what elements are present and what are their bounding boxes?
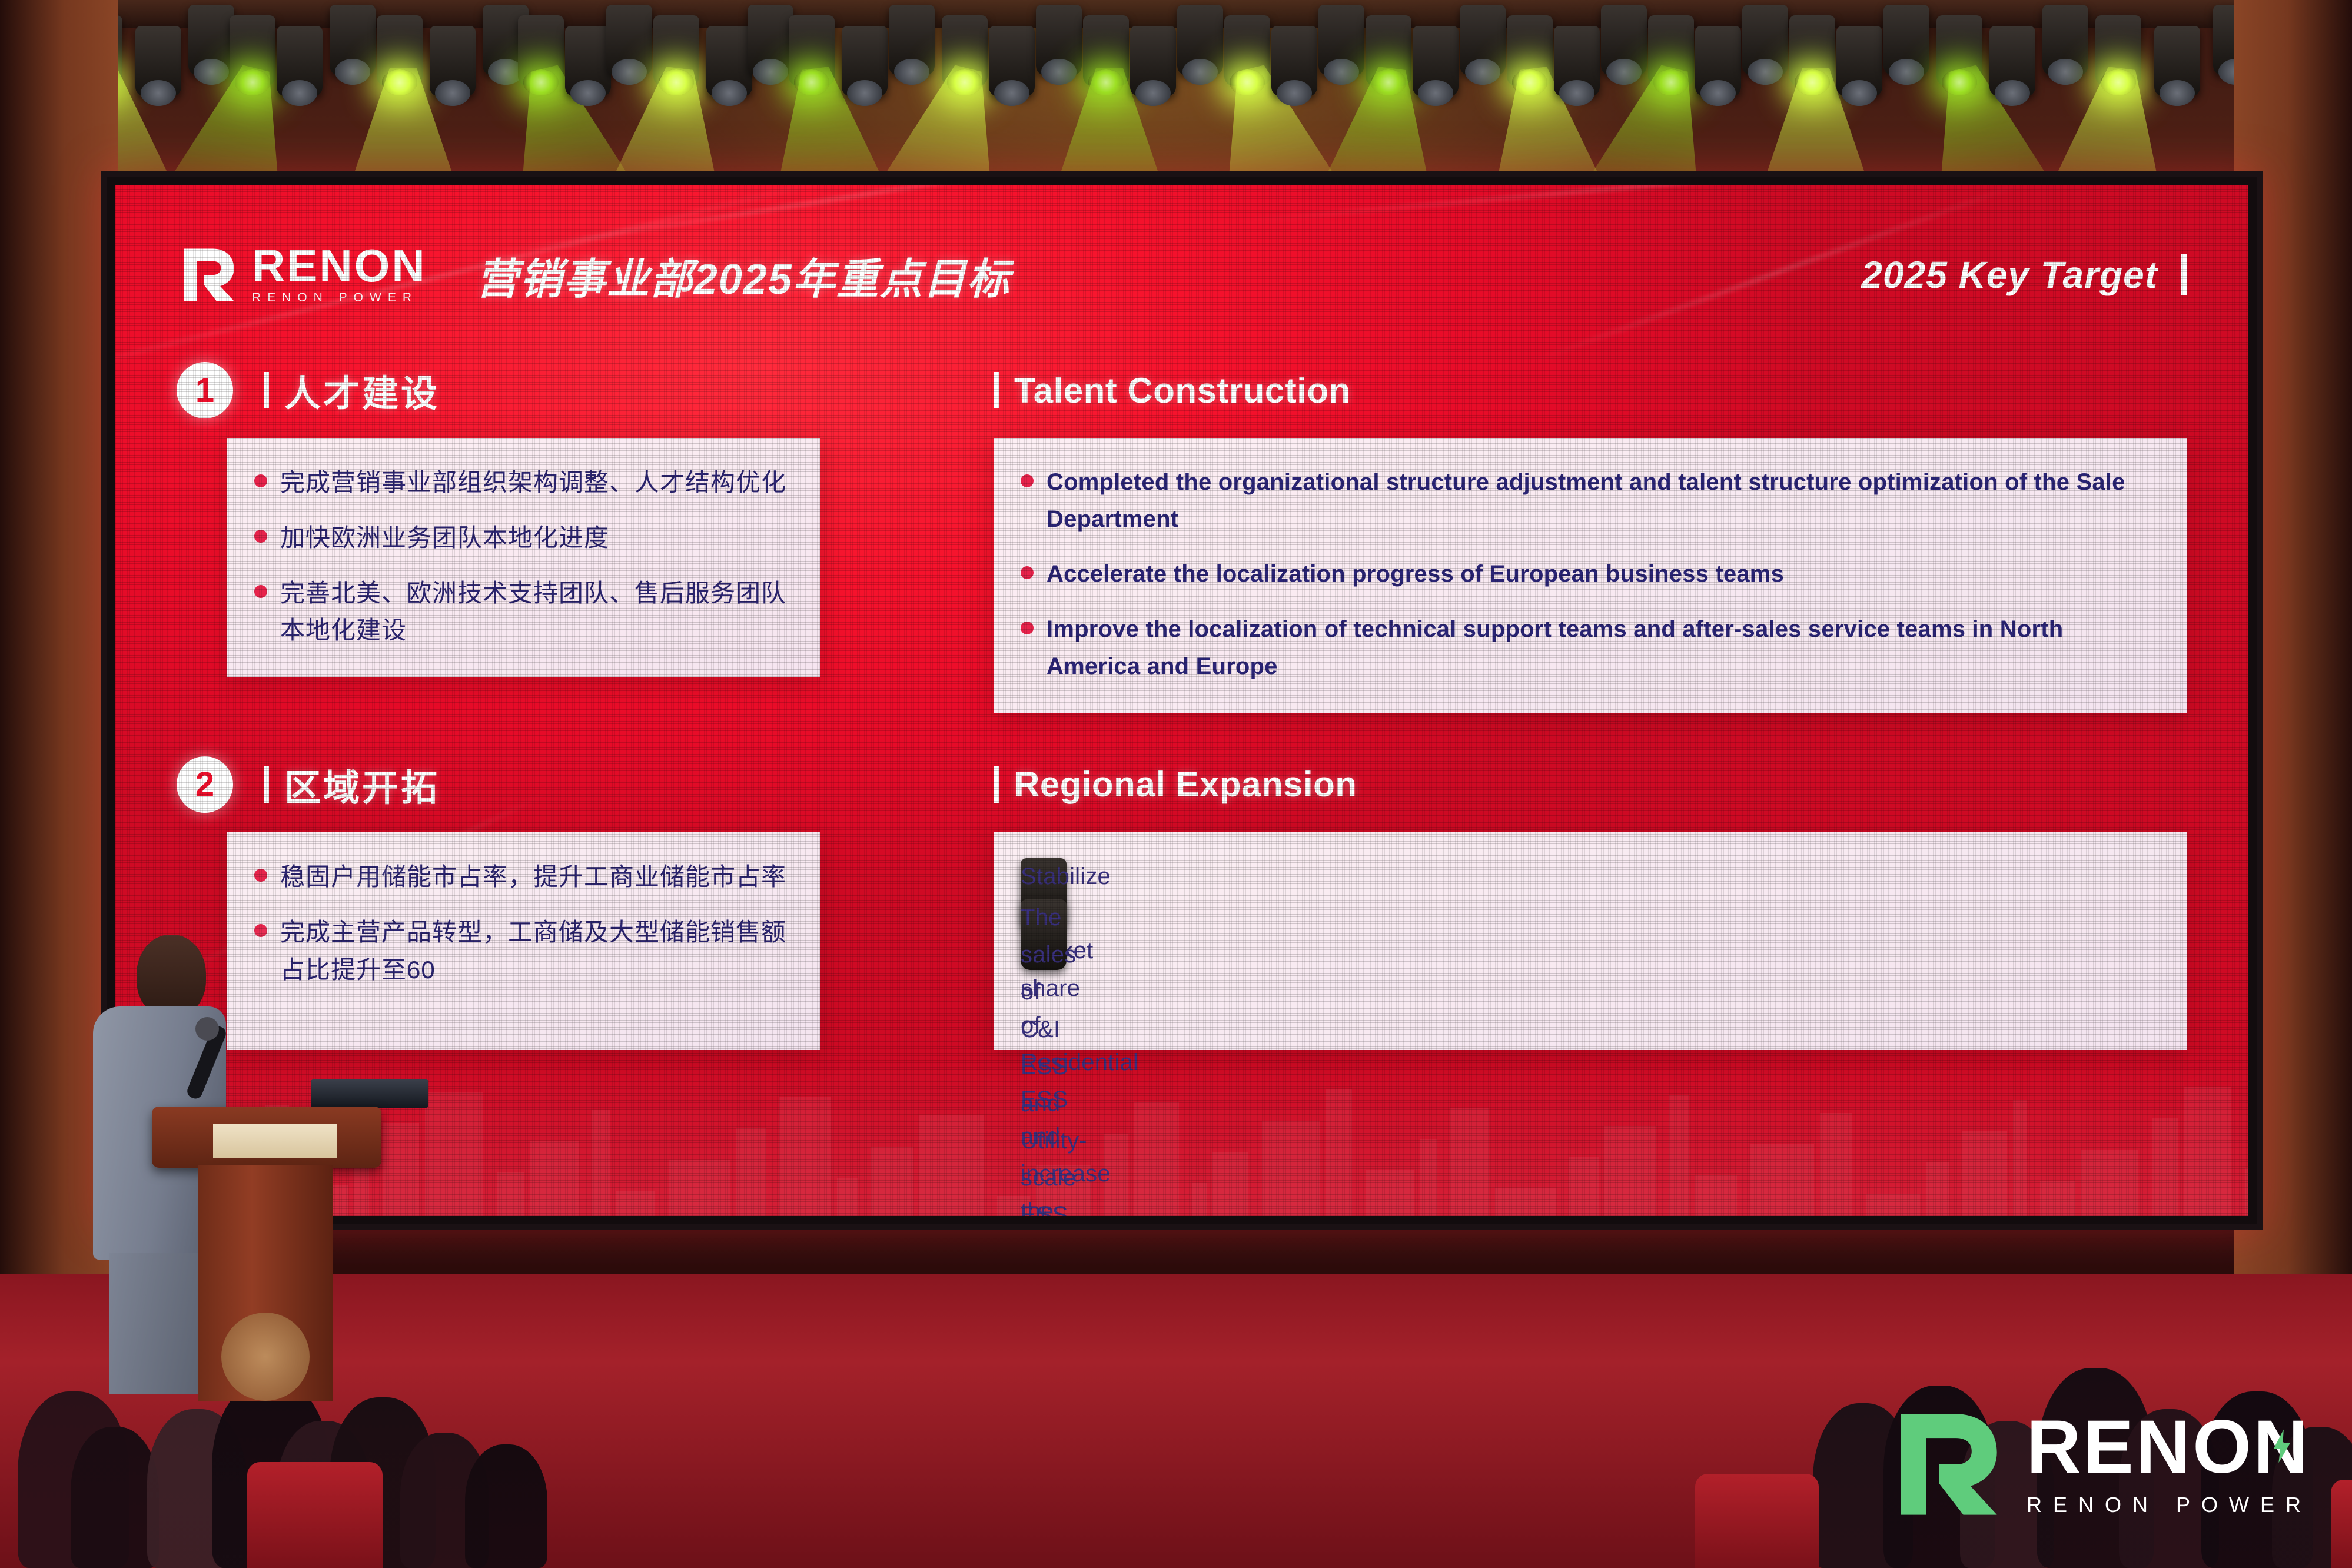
bullet-dot-icon (254, 869, 267, 882)
stage-light (565, 26, 611, 97)
stage-light (2154, 26, 2200, 97)
stage-light (518, 15, 564, 86)
light-lens (570, 80, 606, 106)
list-item: 完成主营产品转型，工商储及大型储能销售额占比提升至60 (254, 913, 789, 989)
bullet-text: Completed the organizational structure a… (1047, 464, 2155, 538)
list-item: 完成营销事业部组织架构调整、人才结构优化 (254, 464, 789, 501)
stage-light (989, 26, 1035, 97)
light-lens (994, 80, 1029, 106)
light-lens (712, 80, 747, 106)
light-lens (659, 69, 694, 95)
stage-light (430, 26, 476, 97)
light-lens (1230, 69, 1265, 95)
stage-light (748, 5, 793, 75)
bullet-dot-icon (254, 474, 267, 487)
stage-light (1789, 15, 1835, 86)
stage-light (606, 5, 652, 75)
podium-top (152, 1107, 381, 1168)
bullet-text: 加快欧洲业务团队本地化进度 (280, 519, 609, 557)
section-1-card-cn: 完成营销事业部组织架构调整、人才结构优化 加快欧洲业务团队本地化进度 完善北美、… (227, 438, 820, 677)
logo-renon-subtitle: RENON POWER (252, 291, 427, 305)
watermark-subtitle: RENON POWER (2027, 1493, 2312, 1517)
stage-light (1413, 26, 1459, 97)
bullet-dot-icon (1021, 566, 1034, 579)
light-lens (435, 80, 470, 106)
bullet-text: Accelerate the localization progress of … (1047, 556, 1784, 593)
stage-light (277, 26, 323, 97)
audience-member (465, 1444, 547, 1568)
stage-light (1554, 26, 1600, 97)
stage-light (889, 5, 935, 75)
light-lens (1512, 69, 1547, 95)
bullet-dot-icon (254, 530, 267, 543)
stage-light (1130, 26, 1176, 97)
stage-light (1318, 5, 1364, 75)
light-lens (1795, 69, 1830, 95)
list-item: Improve the localization of technical su… (1021, 611, 2155, 685)
presentation-slide: RENON RENON POWER 营销事业部2025年重点目标 2025 Ke… (115, 185, 2248, 1216)
renon-watermark-logo-icon (1886, 1404, 2006, 1524)
bullet-dot-icon (254, 585, 267, 598)
logo-renon-text: RENON (252, 245, 427, 287)
section-2-english-column: Regional Expansion Stabilize the market … (948, 752, 2187, 1050)
stage-light (188, 5, 234, 75)
bullet-text: 稳固户用储能市占率，提升工商业储能市占率 (280, 858, 786, 896)
stage-light (2042, 5, 2088, 75)
light-lens (1995, 80, 2030, 106)
light-lens (2160, 80, 2195, 106)
light-lens (1418, 80, 1453, 106)
stage-light (330, 5, 376, 75)
stage-light (1883, 5, 1929, 75)
section-1-english-column: Talent Construction Completed the organi… (948, 358, 2187, 713)
light-lens (2048, 59, 2083, 85)
section-number-badge: 1 (177, 362, 233, 418)
section-2-card-en: Stabilize the market share of Residentia… (994, 832, 2187, 1050)
section-2-heading-en-row: Regional Expansion (994, 752, 2187, 817)
section-1-chinese-column: 1 人才建设 完成营销事业部组织架构调整、人才结构优化 加快欧洲业务 (177, 358, 948, 713)
slide-header-right: 2025 Key Target (1861, 253, 2187, 297)
light-lens (141, 80, 176, 106)
light-lens (1653, 69, 1689, 95)
stage-light (942, 15, 988, 86)
light-lens (1700, 80, 1736, 106)
light-lens (794, 69, 829, 95)
heading-accent-bar (994, 766, 999, 803)
light-lens (1088, 69, 1124, 95)
watermark-renon-label: RENON (2027, 1405, 2310, 1489)
stage-light (1695, 26, 1741, 97)
stage-light (1836, 26, 1882, 97)
light-lens (335, 59, 370, 85)
heading-accent-bar (264, 766, 269, 803)
renon-wordmark: RENON RENON POWER (252, 245, 427, 305)
podium-emblem-icon (221, 1313, 310, 1401)
banquet-chair (1695, 1474, 1819, 1568)
renon-watermark-wordmark: RENON RENON POWER (2027, 1411, 2312, 1517)
stage-light (1648, 15, 1694, 86)
light-lens (2101, 69, 2136, 95)
renon-watermark: RENON RENON POWER (1886, 1404, 2312, 1524)
lightning-bolt-icon (2272, 1429, 2292, 1463)
stage-light (706, 26, 752, 97)
stage-light (1601, 5, 1647, 75)
list-item: The sales of C&I ESS and Utility-scale E… (1021, 899, 2155, 923)
stage-light (789, 15, 835, 86)
conference-stage-scene: RENON RENON POWER 营销事业部2025年重点目标 2025 Ke… (0, 0, 2352, 1568)
led-screen: RENON RENON POWER 营销事业部2025年重点目标 2025 Ke… (115, 185, 2248, 1216)
stage-light (230, 15, 275, 86)
section-2-heading-cn-row: 2 区域开拓 (177, 752, 948, 817)
stage-light (1460, 5, 1506, 75)
bullet-dot-icon (1021, 622, 1034, 634)
section-2-heading-cn: 区域开拓 (284, 758, 440, 811)
venue-plaque (213, 1124, 337, 1158)
list-item: Stabilize the market share of Residentia… (1021, 858, 2155, 882)
light-lens (1324, 59, 1359, 85)
podium-column (198, 1165, 333, 1401)
light-lens (894, 59, 929, 85)
stage-light (653, 15, 699, 86)
header-divider-bar (2181, 254, 2187, 295)
podium (152, 1107, 381, 1548)
banquet-chair (2331, 1480, 2352, 1568)
stage-light (1224, 15, 1270, 86)
section-talent-construction: 1 人才建设 完成营销事业部组织架构调整、人才结构优化 加快欧洲业务 (177, 358, 2187, 713)
light-lens (523, 69, 559, 95)
light-lens (235, 69, 270, 95)
section-2-heading-en: Regional Expansion (1014, 764, 1357, 805)
list-item: 稳固户用储能市占率，提升工商业储能市占率 (254, 858, 789, 896)
stage-light (1083, 15, 1129, 86)
section-1-heading-en: Talent Construction (1014, 370, 1351, 411)
light-lens (194, 59, 229, 85)
light-lens (1889, 59, 1924, 85)
light-lens (1465, 59, 1500, 85)
laptop (311, 1079, 428, 1108)
stage-light (1936, 15, 1982, 86)
stage-light (377, 15, 423, 86)
section-1-heading-cn-row: 1 人才建设 (177, 358, 948, 423)
list-item: Completed the organizational structure a… (1021, 464, 2155, 538)
bullet-text: 完善北美、欧洲技术支持团队、售后服务团队本地化建设 (280, 574, 789, 650)
light-lens (1041, 59, 1077, 85)
slide-title-chinese: 营销事业部2025年重点目标 (476, 244, 1011, 306)
section-1-heading-cn: 人才建设 (284, 364, 440, 417)
light-lens (1135, 80, 1171, 106)
light-lens (1182, 59, 1218, 85)
light-lens (1942, 69, 1977, 95)
bullet-text: The sales of C&I ESS and Utility-scale E… (1021, 899, 1067, 970)
section-1-card-en: Completed the organizational structure a… (994, 438, 2187, 713)
stage-light (1177, 5, 1223, 75)
section-2-chinese-column: 2 区域开拓 稳固户用储能市占率，提升工商业储能市占率 完成主营产品 (177, 752, 948, 1050)
microphone-head-icon (195, 1017, 219, 1041)
watermark-renon-text: RENON (2027, 1411, 2312, 1483)
section-number-badge: 2 (177, 756, 233, 813)
light-lens (1748, 59, 1783, 85)
audience-member (71, 1427, 159, 1568)
list-item: 完善北美、欧洲技术支持团队、售后服务团队本地化建设 (254, 574, 789, 650)
led-screen-bezel: RENON RENON POWER 营销事业部2025年重点目标 2025 Ke… (101, 171, 2263, 1230)
light-lens (1277, 80, 1312, 106)
bullet-text: 完成主营产品转型，工商储及大型储能销售额占比提升至60 (280, 913, 789, 989)
speaker-head (137, 935, 206, 1017)
light-lens (1842, 80, 1877, 106)
stage-light (842, 26, 888, 97)
stage-light (2095, 15, 2141, 86)
stage-light (1036, 5, 1082, 75)
stage-light (135, 26, 181, 97)
list-item: 加快欧洲业务团队本地化进度 (254, 519, 789, 557)
heading-accent-bar (994, 372, 999, 408)
light-lens (382, 69, 417, 95)
light-lens (1371, 69, 1406, 95)
stage-light (1989, 26, 2035, 97)
bullet-dot-icon (1021, 474, 1034, 487)
section-1-heading-en-row: Talent Construction (994, 358, 2187, 423)
bullet-text: Improve the localization of technical su… (1047, 611, 2155, 685)
stage-light (1507, 15, 1553, 86)
light-lens (1606, 59, 1642, 85)
slide-title-english: 2025 Key Target (1861, 253, 2158, 297)
list-item: Accelerate the localization progress of … (1021, 556, 2155, 593)
light-lens (612, 59, 647, 85)
light-lens (947, 69, 982, 95)
stage-light (1366, 15, 1411, 86)
light-lens (753, 59, 788, 85)
section-regional-expansion: 2 区域开拓 稳固户用储能市占率，提升工商业储能市占率 完成主营产品 (177, 752, 2187, 1050)
bullet-dot-icon (254, 924, 267, 937)
light-lens (1559, 80, 1594, 106)
light-lens (282, 80, 317, 106)
slide-header: RENON RENON POWER 营销事业部2025年重点目标 2025 Ke… (177, 231, 2187, 319)
bullet-text: 完成营销事业部组织架构调整、人才结构优化 (280, 464, 786, 501)
heading-accent-bar (264, 372, 269, 408)
section-2-card-cn: 稳固户用储能市占率，提升工商业储能市占率 完成主营产品转型，工商储及大型储能销售… (227, 832, 820, 1050)
stage-light (1742, 5, 1788, 75)
renon-logo-icon (177, 244, 239, 306)
light-lens (847, 80, 882, 106)
stage-light (1271, 26, 1317, 97)
